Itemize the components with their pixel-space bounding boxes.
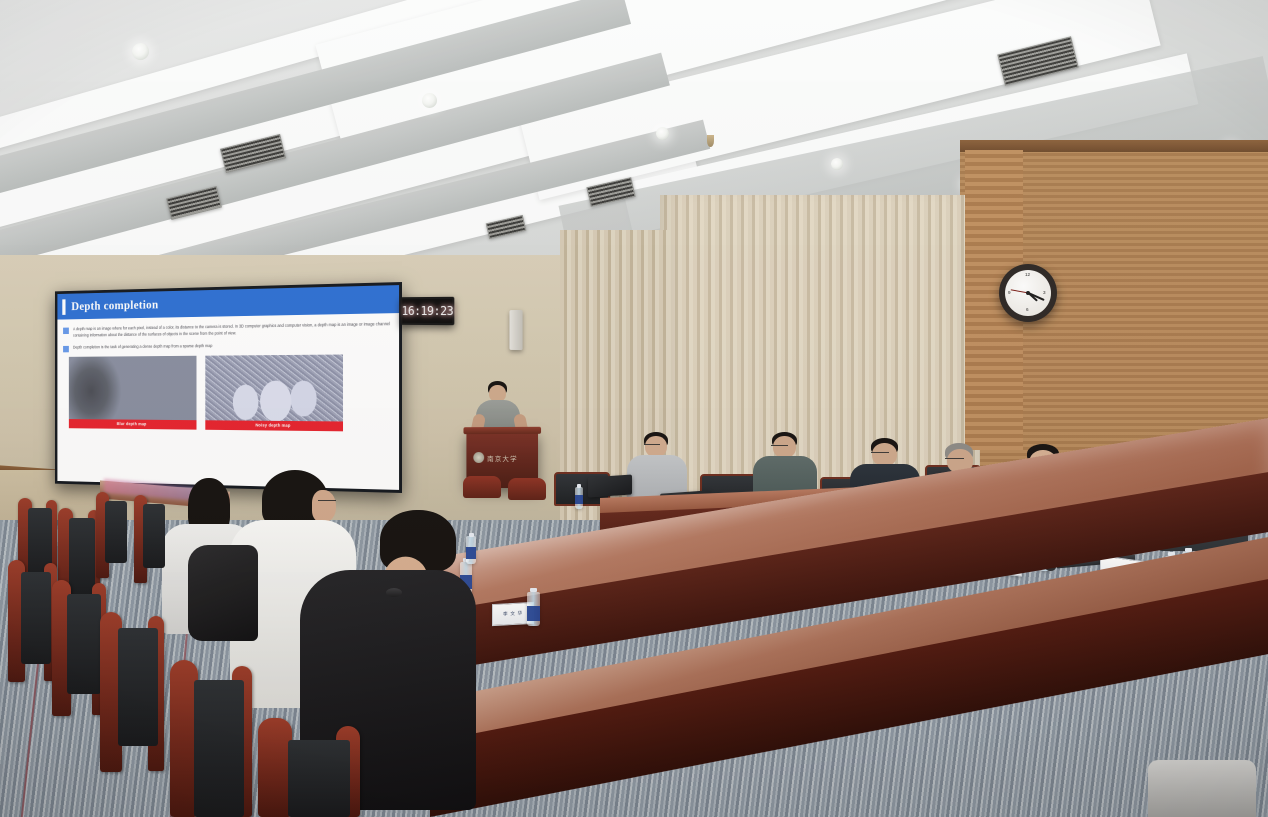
nameplate-text: 李 文 华: [503, 610, 523, 617]
chair-cushion: [143, 504, 165, 568]
bottle-cap: [530, 588, 537, 592]
lectern-top-edge: [463, 427, 541, 434]
chair-cushion: [105, 501, 127, 563]
sprinkler-head: [707, 135, 714, 147]
bottle-label: [575, 495, 583, 504]
slide-figure: Noisy depth map: [205, 354, 343, 431]
conference-chair[interactable]: [463, 476, 503, 510]
clock-numeral: 9: [1008, 290, 1011, 295]
eyeglasses-icon: [945, 458, 964, 462]
chair-cushion: [67, 594, 101, 694]
bottle-cap: [577, 484, 581, 488]
chair-cushion: [21, 572, 51, 664]
chair-cushion: [118, 628, 158, 746]
clock-center-pin: [1026, 291, 1030, 295]
chair-cushion: [69, 518, 95, 596]
slide-bullet-text: Depth completion is the task of generati…: [73, 342, 212, 352]
slide-title: Depth completion: [71, 297, 158, 314]
led-clock-time: 16:19:23: [402, 304, 454, 318]
ceiling-downlight: [656, 127, 669, 140]
wall-clock: 12 3 6 9: [999, 264, 1057, 322]
laptop-lid: [588, 474, 632, 497]
clock-numeral: 3: [1043, 290, 1046, 295]
clock-numeral: 12: [1025, 272, 1030, 277]
presentation-slide: Depth completion A depth map is an image…: [57, 285, 399, 490]
chair-cushion: [194, 680, 244, 817]
table-microphone[interactable]: [386, 588, 402, 597]
slide-bullet: A depth map is an image where for each p…: [57, 317, 399, 339]
slide-figure: Blur depth map: [69, 355, 197, 429]
eyeglasses-icon: [644, 444, 660, 448]
slide-figure-row: Blur depth map Noisy depth map: [57, 349, 399, 432]
figure-caption: Blur depth map: [69, 419, 197, 430]
blur-depth-map-image: [69, 355, 197, 419]
lectern-institution-text: 南京大学: [487, 453, 518, 463]
chair-backrest: [463, 476, 501, 498]
water-bottle[interactable]: [527, 592, 540, 626]
university-emblem-icon: [473, 452, 484, 463]
slide-bullet-text: A depth map is an image where for each p…: [73, 320, 391, 339]
ceiling-downlight: [831, 158, 843, 170]
floor-monitor-stand: [1148, 760, 1256, 817]
ceiling-downlight: [422, 93, 437, 108]
backpack: [188, 545, 258, 641]
conference-room-photo: 12 3 6 9 Depth completion A depth map is…: [0, 0, 1268, 817]
projection-screen[interactable]: Depth completion A depth map is an image…: [55, 282, 402, 493]
chair-backrest: [258, 718, 292, 817]
eyeglasses-icon: [318, 500, 336, 504]
chair-cushion: [288, 740, 350, 817]
figure-caption: Noisy depth map: [205, 420, 343, 431]
conference-chair[interactable]: [508, 478, 548, 512]
clock-face: 12 3 6 9: [1005, 270, 1051, 316]
slide-header: Depth completion: [57, 285, 399, 319]
eyeglasses-icon: [871, 452, 889, 456]
bottle-label: [527, 606, 540, 621]
noisy-depth-map-image: [205, 354, 343, 421]
wall-speaker: [509, 310, 522, 350]
chair-backrest: [508, 478, 546, 500]
bullet-marker-icon: [63, 346, 69, 352]
eyeglasses-icon: [771, 445, 788, 449]
bullet-marker-icon: [63, 328, 69, 334]
clock-numeral: 6: [1026, 307, 1029, 312]
water-bottle[interactable]: [575, 487, 583, 509]
led-clock-display: 16:19:23: [400, 297, 454, 325]
ceiling-downlight: [132, 43, 149, 60]
